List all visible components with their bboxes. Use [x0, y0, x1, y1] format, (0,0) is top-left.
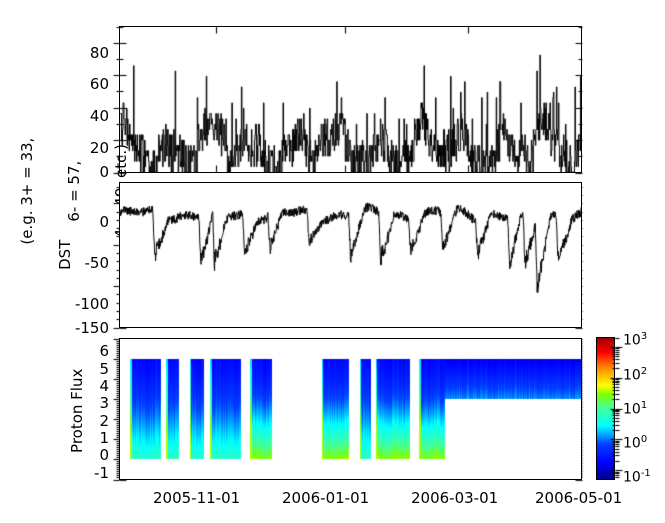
cb-exponent-1: 0 [641, 434, 647, 445]
panel-proton-flux [119, 338, 582, 480]
pf-ytick-3: 3 [75, 394, 109, 412]
panel-kp [119, 26, 582, 173]
cb-exponent-100: 2 [641, 366, 647, 377]
pf-ytick-4: 4 [75, 377, 109, 395]
cb-exponent-1000: 3 [641, 331, 647, 342]
xtick-label-3: 2006-05-01 [535, 489, 622, 507]
dst-ytick-0: 0 [56, 213, 109, 231]
dst-ytick-n100: -100 [56, 295, 109, 313]
colorbar-tick-100: 102 [623, 366, 647, 384]
proton-flux-plot-area [120, 339, 581, 479]
colorbar-gradient [597, 338, 614, 479]
colorbar-tick-0.1: 10-1 [623, 468, 651, 486]
pf-ytick-5: 5 [75, 360, 109, 378]
colorbar-tick-1000: 103 [623, 331, 647, 349]
cb-mantissa-1000: 10 [623, 333, 641, 349]
cb-exponent-10: 1 [641, 400, 647, 411]
pf-ytick-1: 1 [75, 429, 109, 447]
colorbar-tick-10: 101 [623, 400, 647, 418]
pf-ytick-0: 0 [75, 446, 109, 464]
pf-ytick-2: 2 [75, 412, 109, 430]
xtick-label-0: 2005-11-01 [153, 489, 240, 507]
colorbar-tick-1: 100 [623, 434, 647, 452]
kp-ytick-40: 40 [64, 107, 109, 125]
xtick-label-2: 2006-03-01 [411, 489, 498, 507]
xtick-label-1: 2006-01-01 [282, 489, 369, 507]
kp-plot-area [120, 27, 581, 172]
dst-ytick-n150: -150 [56, 319, 109, 337]
kp-ytick-0: 0 [64, 163, 109, 181]
figure-canvas: Kp (e.g. 3+ = 33, 6- = 57, 4 = 40, etc.)… [0, 0, 665, 523]
dst-plot-area [120, 183, 581, 327]
pf-ytick-n1: -1 [69, 464, 109, 482]
kp-ytick-80: 80 [64, 44, 109, 62]
kp-ytick-60: 60 [64, 75, 109, 93]
pf-ytick-6: 6 [75, 342, 109, 360]
kp-axis-label-line-1: (e.g. 3+ = 33, [20, 116, 36, 266]
cb-mantissa-0.1: 10 [623, 470, 641, 486]
cb-mantissa-1: 10 [623, 436, 641, 452]
colorbar [596, 337, 615, 480]
panel-dst [119, 182, 582, 328]
kp-ytick-20: 20 [64, 139, 109, 157]
dst-ytick-n50: -50 [56, 254, 109, 272]
cb-exponent-0.1: -1 [641, 468, 651, 479]
cb-mantissa-10: 10 [623, 402, 641, 418]
cb-mantissa-100: 10 [623, 368, 641, 384]
